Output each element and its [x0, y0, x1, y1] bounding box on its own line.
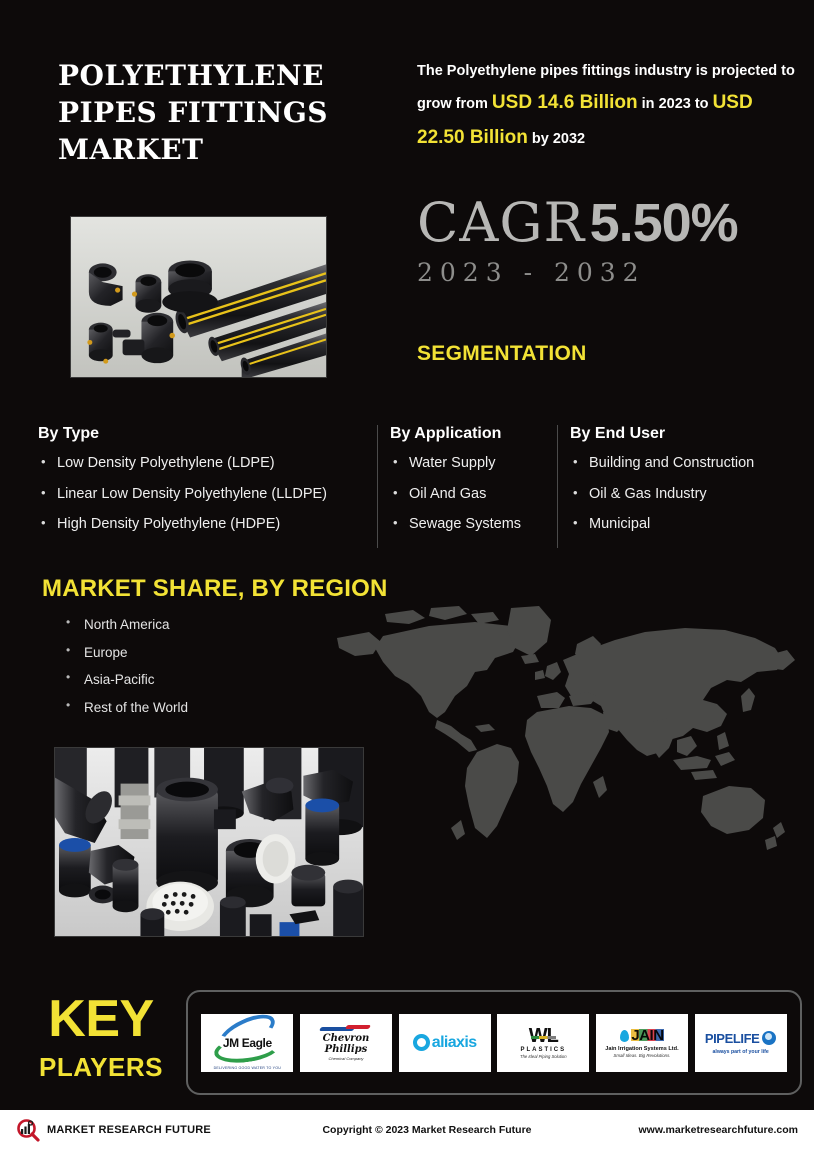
wl-plastics-color-bar-icon [531, 1036, 556, 1039]
chevron-phillips-line-1: Chevron [323, 1034, 370, 1044]
footer-copyright: Copyright © 2023 Market Research Future [290, 1124, 564, 1136]
logo-chevron-phillips[interactable]: Chevron Phillips Chemical Company [300, 1014, 392, 1072]
jain-lockup: JAIN [620, 1027, 663, 1044]
players-word: PLAYERS [26, 1052, 176, 1083]
footer-bar: MARKET RESEARCH FUTURE Copyright © 2023 … [0, 1110, 814, 1150]
segment-item: Sewage Systems [390, 517, 543, 532]
logo-jm-eagle[interactable]: JM Eagle DELIVERING GOOD WATER TO YOU [201, 1014, 293, 1072]
segment-item: Oil And Gas [390, 487, 543, 502]
intro-part-3: by 2032 [528, 131, 585, 147]
footer-website-url[interactable]: www.marketresearchfuture.com [564, 1124, 814, 1136]
jm-eagle-tagline: DELIVERING GOOD WATER TO YOU [214, 1066, 282, 1070]
jain-tagline: Small Ideas. Big Revolutions. [613, 1053, 670, 1058]
segmentation-heading: SEGMENTATION [417, 342, 587, 366]
logo-pipelife[interactable]: PIPELIFE always part of your life [695, 1014, 787, 1072]
title-line-1: POLYETHYLENE [58, 58, 388, 95]
intro-part-2: in 2023 to [638, 96, 713, 112]
key-players-label: KEY PLAYERS [26, 995, 176, 1083]
title-line-3: MARKET [58, 132, 388, 169]
hdpe-pipes-photo [70, 216, 327, 378]
logo-aliaxis[interactable]: aliaxis [399, 1014, 491, 1072]
market-summary-text: The Polyethylene pipes fittings industry… [417, 58, 799, 155]
aliaxis-lockup: aliaxis [413, 1034, 477, 1052]
segmentation-columns: By Type Low Density Polyethylene (LDPE) … [38, 425, 784, 548]
market-research-future-logo-icon [16, 1118, 40, 1142]
infographic-page: POLYETHYLENE PIPES FITTINGS MARKET The P… [0, 0, 814, 1150]
key-word: KEY [26, 995, 176, 1044]
cagr-label: CAGR [417, 191, 585, 254]
logo-wl-plastics[interactable]: WL PLASTICS The Ideal Piping Solution [497, 1014, 589, 1072]
region-item: North America [62, 618, 188, 632]
pipelife-wordmark: PIPELIFE [705, 1031, 760, 1046]
jm-eagle-wordmark: JM Eagle [223, 1036, 272, 1050]
market-value-2023: USD 14.6 Billion [492, 92, 638, 113]
cagr-value: 5.50% [590, 193, 738, 253]
segment-heading: By End User [570, 425, 770, 443]
pipelife-sphere-icon [762, 1031, 776, 1045]
world-map [325, 600, 805, 890]
region-item: Asia-Pacific [62, 673, 188, 687]
region-item: Rest of the World [62, 701, 188, 715]
chevron-phillips-swoosh-icon [320, 1024, 372, 1033]
segment-item: Water Supply [390, 456, 543, 471]
aliaxis-circle-icon [413, 1034, 430, 1051]
wl-plastics-tagline: The Ideal Piping Solution [520, 1054, 567, 1059]
chevron-phillips-line-2: Phillips [325, 1045, 368, 1055]
pipelife-tagline: always part of your life [713, 1049, 769, 1055]
segment-by-type: By Type Low Density Polyethylene (LDPE) … [38, 425, 378, 548]
aliaxis-wordmark: aliaxis [432, 1034, 477, 1052]
wl-plastics-name: PLASTICS [520, 1047, 566, 1053]
pipelife-lockup: PIPELIFE [705, 1031, 777, 1046]
segment-item: Municipal [570, 517, 770, 532]
cagr-block: CAGR 5.50% 2023 - 2032 [417, 196, 807, 287]
segment-item: Low Density Polyethylene (LDPE) [38, 456, 363, 471]
page-title: POLYETHYLENE PIPES FITTINGS MARKET [58, 58, 388, 169]
segment-item: Oil & Gas Industry [570, 487, 770, 502]
segment-by-application: By Application Water Supply Oil And Gas … [378, 425, 558, 548]
footer-brand-name: MARKET RESEARCH FUTURE [47, 1124, 211, 1136]
logo-jain-irrigation[interactable]: JAIN Jain Irrigation Systems Ltd. Small … [596, 1014, 688, 1072]
wl-plastics-wordmark: WL [529, 1027, 558, 1045]
region-item: Europe [62, 646, 188, 660]
footer-brand[interactable]: MARKET RESEARCH FUTURE [0, 1118, 290, 1142]
cagr-period: 2023 - 2032 [417, 258, 807, 287]
chevron-phillips-tagline: Chemical Company [329, 1056, 364, 1061]
jain-wordmark: JAIN [631, 1027, 663, 1044]
region-list: North America Europe Asia-Pacific Rest o… [62, 618, 188, 728]
cagr-row: CAGR 5.50% [417, 196, 807, 250]
jain-water-drop-icon [620, 1030, 629, 1042]
segment-item: Linear Low Density Polyethylene (LLDPE) [38, 487, 363, 502]
segment-item: High Density Polyethylene (HDPE) [38, 517, 363, 532]
segment-item: Building and Construction [570, 456, 770, 471]
jain-color-strip-icon [631, 1029, 663, 1041]
region-heading: MARKET SHARE, BY REGION [42, 575, 388, 603]
key-players-logo-box: JM Eagle DELIVERING GOOD WATER TO YOU Ch… [186, 990, 802, 1095]
jain-company-name: Jain Irrigation Systems Ltd. [605, 1046, 678, 1052]
segment-by-end-user: By End User Building and Construction Oi… [558, 425, 784, 548]
segment-heading: By Type [38, 425, 363, 443]
title-line-2: PIPES FITTINGS [58, 95, 388, 132]
pipe-fittings-photo [54, 747, 364, 937]
segment-heading: By Application [390, 425, 543, 443]
